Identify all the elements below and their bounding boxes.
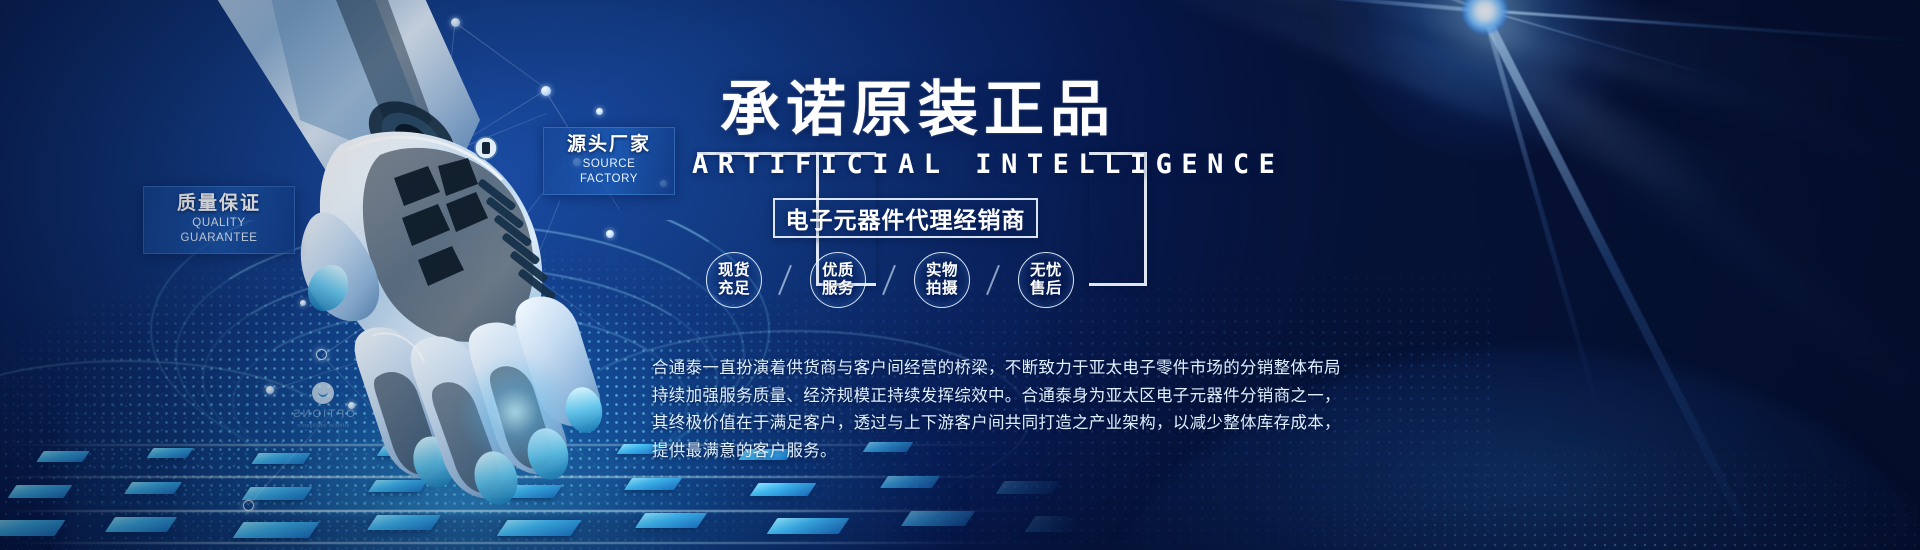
vignette-overlay bbox=[0, 0, 1920, 550]
hero-banner: OPTIONS artificial intelligence bbox=[0, 0, 1920, 550]
